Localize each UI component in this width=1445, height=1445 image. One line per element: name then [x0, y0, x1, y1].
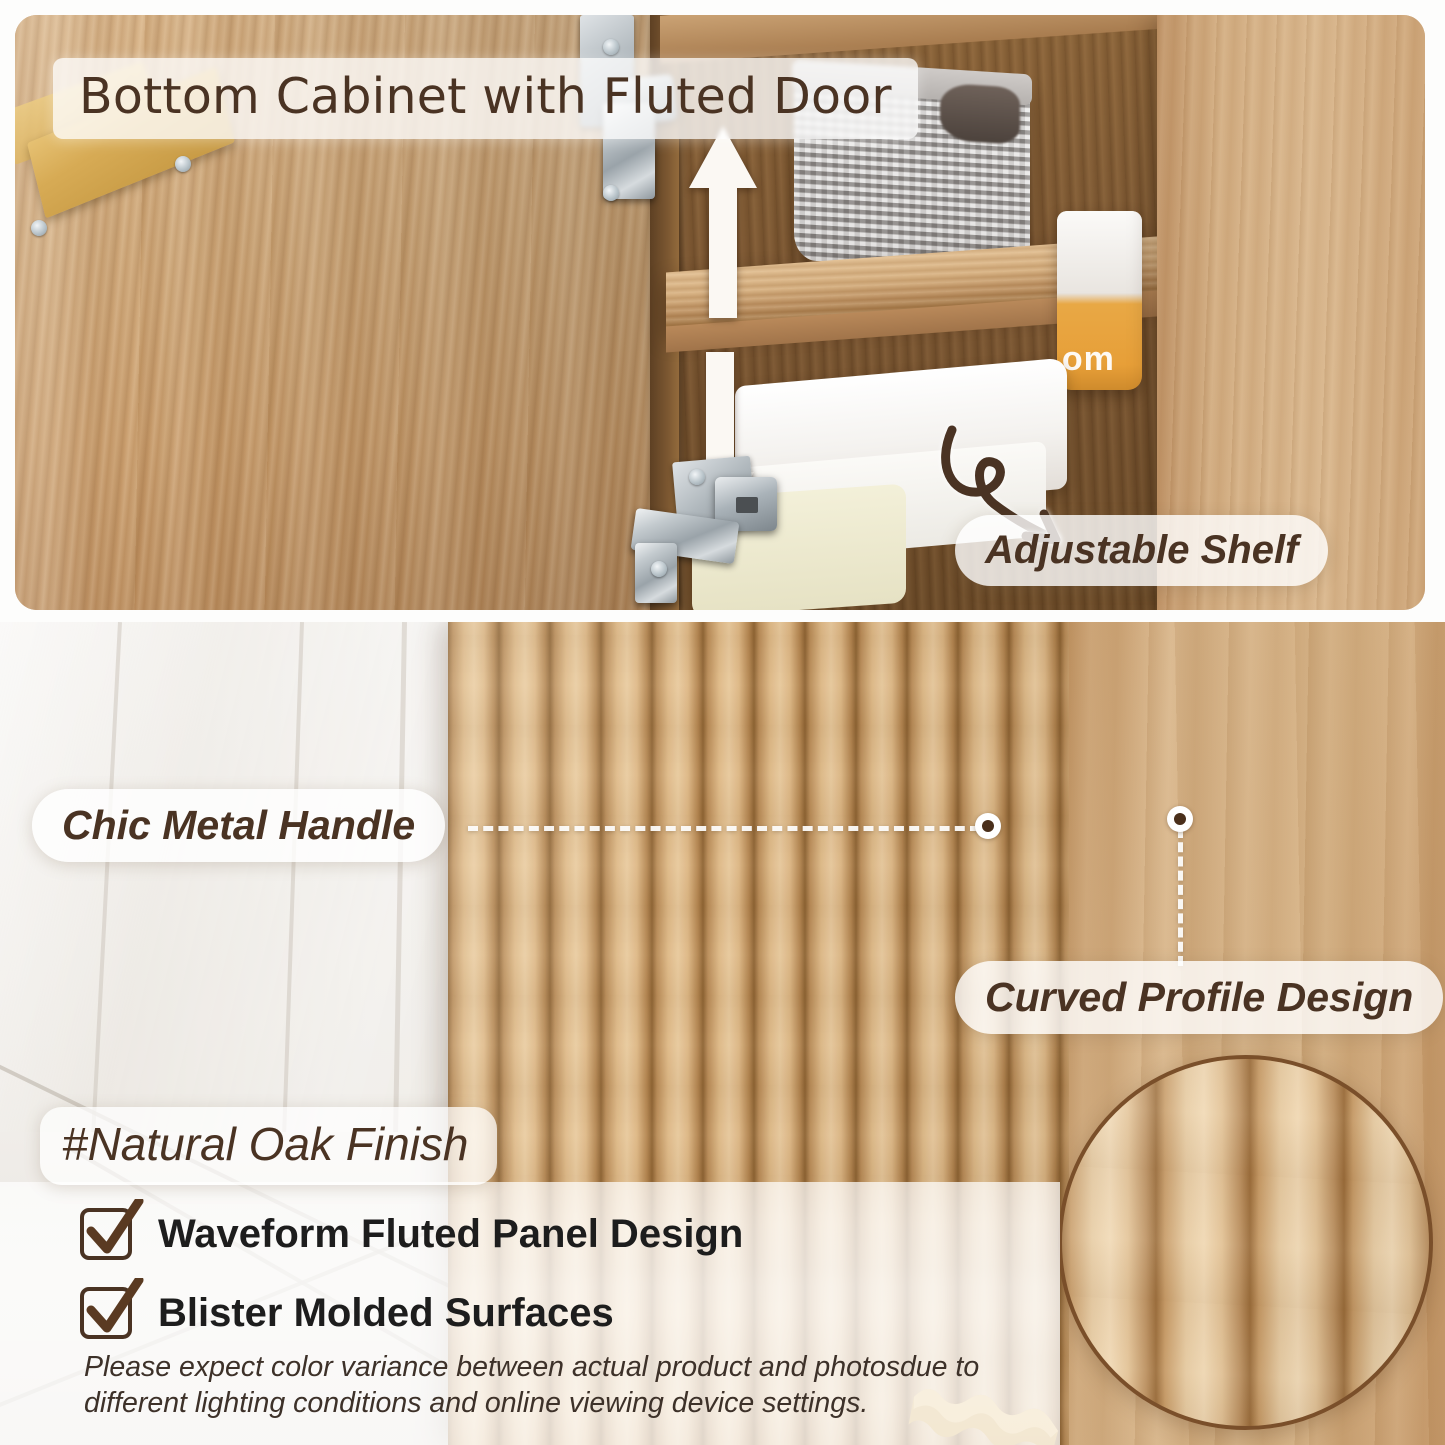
- product-feature-image: om: [0, 0, 1445, 1445]
- bracket-screw: [175, 156, 191, 172]
- natural-oak-finish-heading: #Natural Oak Finish: [40, 1107, 497, 1185]
- hinge-screw: [603, 39, 619, 55]
- jar-label-text: om: [1062, 340, 1115, 379]
- feature-list-item-label: Blister Molded Surfaces: [158, 1291, 614, 1336]
- connector-dot-curved-profile: [1167, 806, 1193, 832]
- hinge-screw: [603, 185, 619, 201]
- bracket-screw: [31, 220, 47, 236]
- callout-adjustable-shelf: Adjustable Shelf: [955, 515, 1328, 586]
- connector-dot-handle: [975, 813, 1001, 839]
- callout-chic-metal-handle-label: Chic Metal Handle: [62, 802, 415, 849]
- feature-list-item-label: Waveform Fluted Panel Design: [158, 1212, 743, 1257]
- feature-list-item: Blister Molded Surfaces: [80, 1287, 614, 1339]
- callout-chic-metal-handle: Chic Metal Handle: [32, 789, 445, 862]
- arrow-up-icon: [687, 122, 759, 322]
- checkbox-checked-icon: [80, 1208, 132, 1260]
- basket-contents: [940, 83, 1020, 145]
- callout-curved-profile-design: Curved Profile Design: [955, 961, 1443, 1034]
- hinge-screw: [651, 561, 667, 577]
- feature-list-item: Waveform Fluted Panel Design: [80, 1208, 743, 1260]
- fluted-panel-magnified-detail: [1058, 1055, 1433, 1430]
- connector-line-handle: [468, 826, 980, 831]
- connector-line-curved-profile: [1178, 828, 1183, 966]
- page-title: Bottom Cabinet with Fluted Door: [53, 58, 918, 139]
- callout-curved-profile-design-label: Curved Profile Design: [985, 974, 1413, 1021]
- cream-jar-with-orange-label: om: [1057, 211, 1143, 390]
- hinge-adjustment-slot: [736, 497, 758, 513]
- hinge-screw: [689, 469, 705, 485]
- disclaimer-line-1: Please expect color variance between act…: [84, 1350, 964, 1386]
- page-title-text: Bottom Cabinet with Fluted Door: [79, 68, 892, 125]
- disclaimer-line-2: different lighting conditions and online…: [84, 1386, 964, 1422]
- jar-lid: [1057, 211, 1143, 293]
- checkbox-checked-icon: [80, 1287, 132, 1339]
- disclaimer-text: Please expect color variance between act…: [84, 1350, 964, 1422]
- natural-oak-finish-label: #Natural Oak Finish: [62, 1117, 469, 1171]
- callout-adjustable-shelf-label: Adjustable Shelf: [985, 528, 1298, 573]
